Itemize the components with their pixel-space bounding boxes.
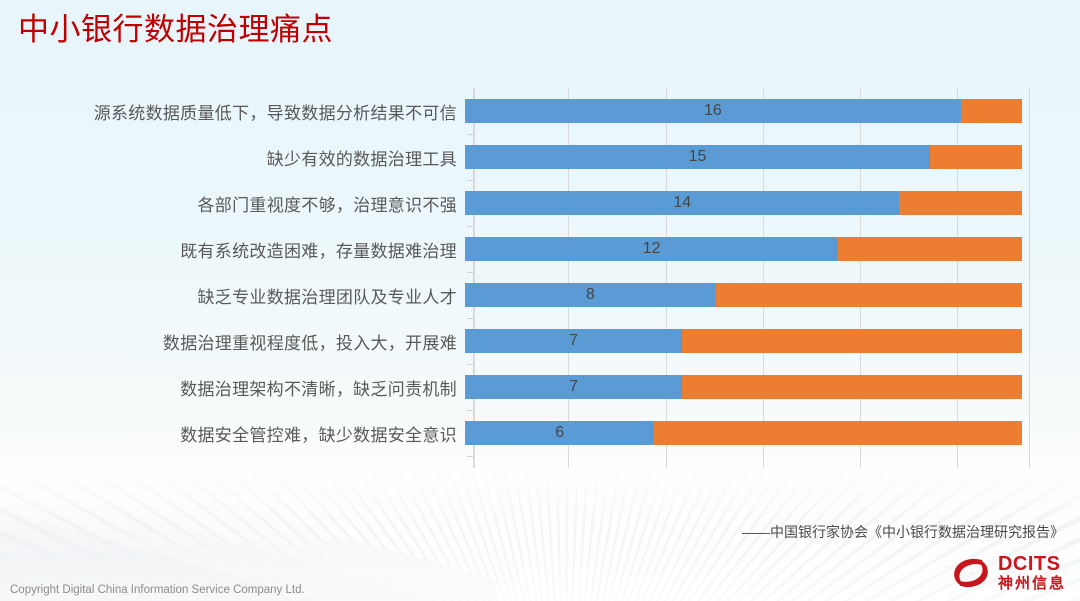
bar-segment-remainder: [716, 283, 1022, 307]
category-label: 缺乏专业数据治理团队及专业人才: [0, 283, 465, 308]
category-label: 各部门重视度不够，治理意识不强: [0, 191, 465, 216]
stacked-bar[interactable]: 12: [465, 237, 1022, 261]
bar-segment-primary: 15: [465, 145, 930, 169]
bar-value-label: 14: [465, 195, 899, 211]
chart-row: 缺乏专业数据治理团队及专业人才8: [0, 272, 1060, 318]
bar-track: 15: [465, 134, 1060, 180]
category-label: 数据治理架构不清晰，缺乏问责机制: [0, 375, 465, 400]
chart-row: 数据治理重视程度低，投入大，开展难7: [0, 318, 1060, 364]
bar-segment-remainder: [682, 375, 1022, 399]
stacked-bar[interactable]: 8: [465, 283, 1022, 307]
chart-row: 缺少有效的数据治理工具15: [0, 134, 1060, 180]
bar-segment-remainder: [930, 145, 1022, 169]
source-citation: ——中国银行家协会《中小银行数据治理研究报告》: [742, 522, 1064, 542]
bar-segment-primary: 16: [465, 99, 961, 123]
axis-tick: [467, 456, 473, 457]
bar-track: 7: [465, 364, 1060, 410]
bar-value-label: 6: [465, 425, 654, 441]
stacked-bar[interactable]: 7: [465, 329, 1022, 353]
bar-track: 16: [465, 88, 1060, 134]
stacked-bar[interactable]: 7: [465, 375, 1022, 399]
stacked-bar[interactable]: 14: [465, 191, 1022, 215]
chart-row: 源系统数据质量低下，导致数据分析结果不可信16: [0, 88, 1060, 134]
bar-segment-remainder: [654, 421, 1022, 445]
bar-segment-remainder: [899, 191, 1022, 215]
bar-value-label: 16: [465, 103, 961, 119]
bar-track: 12: [465, 226, 1060, 272]
stacked-bar-chart: 源系统数据质量低下，导致数据分析结果不可信16缺少有效的数据治理工具15各部门重…: [0, 88, 1060, 468]
bar-value-label: 8: [465, 287, 716, 303]
dcits-swirl-icon: [951, 555, 991, 591]
dcits-logo: DCITS 神州信息: [951, 554, 1066, 591]
bar-track: 14: [465, 180, 1060, 226]
chart-row: 既有系统改造困难，存量数据难治理12: [0, 226, 1060, 272]
bar-segment-primary: 12: [465, 237, 838, 261]
category-label: 源系统数据质量低下，导致数据分析结果不可信: [0, 99, 465, 124]
stacked-bar[interactable]: 16: [465, 99, 1022, 123]
logo-brand-cn: 神州信息: [998, 576, 1066, 591]
category-label: 既有系统改造困难，存量数据难治理: [0, 237, 465, 262]
bar-segment-primary: 6: [465, 421, 654, 445]
stacked-bar[interactable]: 15: [465, 145, 1022, 169]
category-label: 数据治理重视程度低，投入大，开展难: [0, 329, 465, 354]
bar-segment-remainder: [838, 237, 1022, 261]
chart-rows: 源系统数据质量低下，导致数据分析结果不可信16缺少有效的数据治理工具15各部门重…: [0, 88, 1060, 456]
bar-segment-primary: 7: [465, 375, 682, 399]
bar-segment-primary: 14: [465, 191, 899, 215]
bar-track: 8: [465, 272, 1060, 318]
bar-segment-remainder: [961, 99, 1022, 123]
bar-track: 7: [465, 318, 1060, 364]
stacked-bar[interactable]: 6: [465, 421, 1022, 445]
chart-row: 数据安全管控难，缺少数据安全意识6: [0, 410, 1060, 456]
bar-value-label: 7: [465, 379, 682, 395]
logo-wordmark: DCITS 神州信息: [998, 554, 1066, 591]
category-label: 缺少有效的数据治理工具: [0, 145, 465, 170]
copyright-text: Copyright Digital China Information Serv…: [10, 584, 305, 596]
bar-track: 6: [465, 410, 1060, 456]
page-title: 中小银行数据治理痛点: [18, 8, 333, 52]
category-label: 数据安全管控难，缺少数据安全意识: [0, 421, 465, 446]
bar-value-label: 15: [465, 149, 930, 165]
bar-segment-primary: 8: [465, 283, 716, 307]
bar-segment-remainder: [682, 329, 1022, 353]
chart-row: 各部门重视度不够，治理意识不强14: [0, 180, 1060, 226]
chart-row: 数据治理架构不清晰，缺乏问责机制7: [0, 364, 1060, 410]
bar-segment-primary: 7: [465, 329, 682, 353]
bar-value-label: 12: [465, 241, 838, 257]
slide-canvas: 中小银行数据治理痛点 源系统数据质量低下，导致数据分析结果不可信16缺少有效的数…: [0, 0, 1080, 601]
logo-brand-en: DCITS: [998, 554, 1066, 574]
bar-value-label: 7: [465, 333, 682, 349]
